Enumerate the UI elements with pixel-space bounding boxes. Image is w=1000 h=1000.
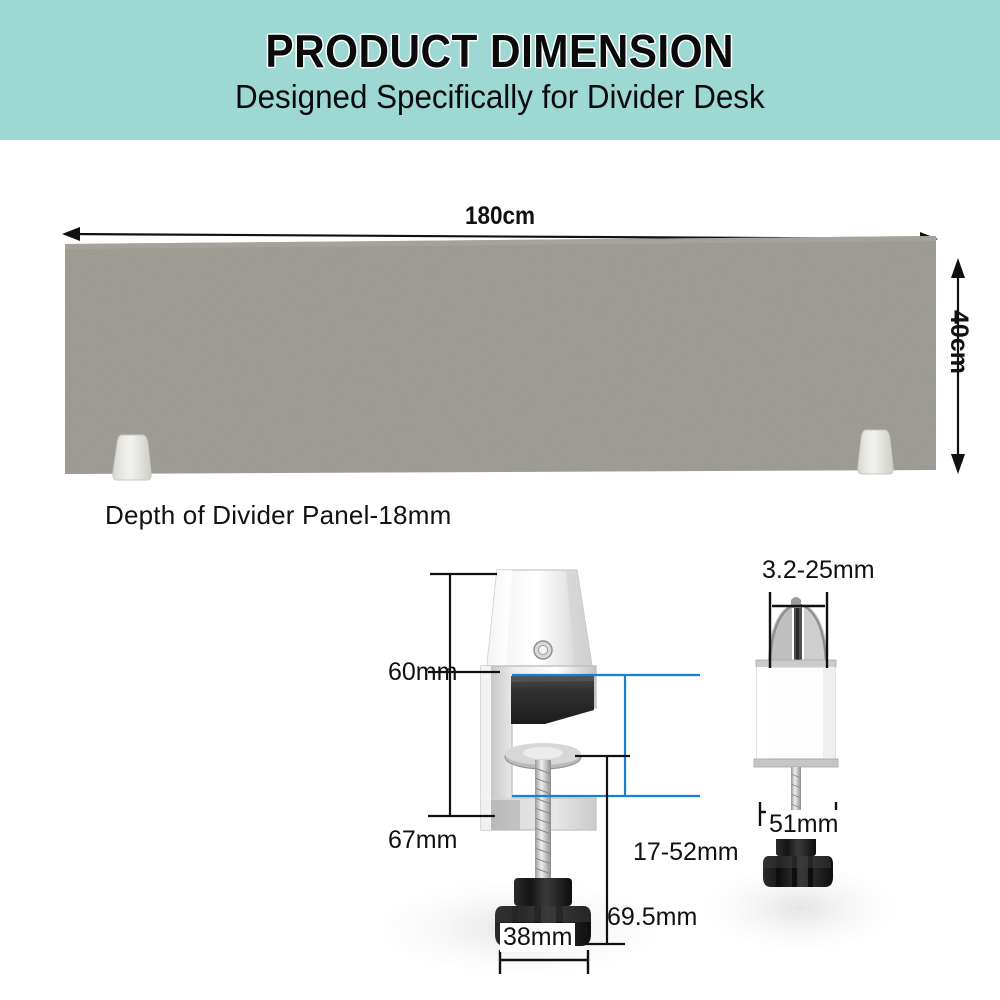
clamp-knob-collar [514, 878, 572, 906]
panel-body [65, 236, 936, 474]
dimension-label-60mm: 60mm [388, 658, 457, 687]
height-arrow-top-head [951, 258, 965, 278]
divider-panel-figure: 180cm 40cm [0, 140, 1000, 550]
dimension-label-69-5mm: 69.5mm [607, 903, 697, 932]
clamp-front-view [754, 597, 838, 887]
page-subtitle: Designed Specifically for Divider Desk [235, 80, 765, 113]
page-title: PRODUCT DIMENSION [266, 28, 735, 74]
clamp-figures: 60mm 67mm 17-52mm 69.5mm 38mm 3.2-25mm 5… [0, 548, 1000, 1000]
panel-height-label: 40cm [944, 310, 973, 374]
header-banner: PRODUCT DIMENSION Designed Specifically … [0, 0, 1000, 140]
dimension-label-17-52mm: 17-52mm [633, 838, 739, 867]
front-top-rail [756, 660, 836, 667]
panel-width-label: 180cm [50, 202, 950, 231]
dimension-label-38mm: 38mm [500, 923, 575, 952]
dimension-label-51mm: 51mm [766, 810, 841, 839]
front-knob [763, 856, 833, 887]
height-arrow-bottom-head [951, 454, 965, 474]
dimension-label-3-2-25mm: 3.2-25mm [762, 556, 875, 585]
clamp-screw-shaft [535, 760, 551, 896]
dimension-label-67mm: 67mm [388, 826, 457, 855]
infographic-canvas: PRODUCT DIMENSION Designed Specifically … [0, 0, 1000, 1000]
panel-depth-note: Depth of Divider Panel-18mm [105, 500, 451, 531]
clamp-rubber-pad [511, 675, 594, 724]
panel-foot-right [858, 430, 893, 474]
front-bottom-rail [754, 759, 838, 767]
panel-foot-left [113, 435, 151, 480]
